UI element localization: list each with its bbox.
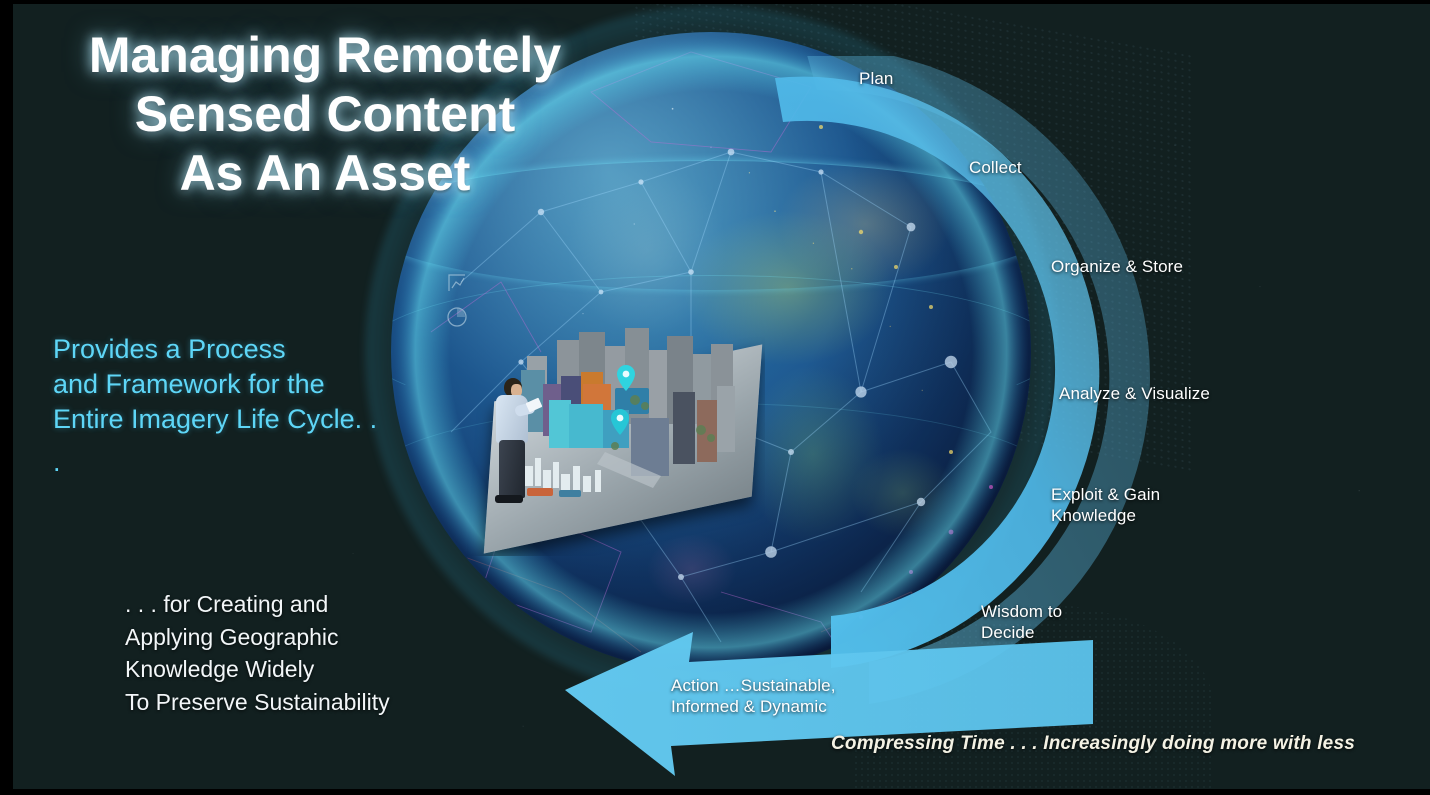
cycle-step-label: Wisdom to Decide <box>981 602 1062 643</box>
tagline-text: . . . for Creating and Applying Geograph… <box>125 588 595 719</box>
person-trousers <box>499 440 525 498</box>
cycle-step-label: Analyze & Visualize <box>1059 384 1210 405</box>
cycle-step-action[interactable]: Action …Sustainable, Informed & Dynamic <box>659 662 915 732</box>
cycle-step-label: Exploit & Gain Knowledge <box>1051 485 1160 526</box>
subtitle-text: Provides a Process and Framework for the… <box>53 332 523 437</box>
cycle-step-analyze-visualize[interactable]: Analyze & Visualize <box>1033 356 1281 432</box>
cycle-step-organize-store[interactable]: Organize & Store <box>1025 230 1269 304</box>
cycle-step-label: Organize & Store <box>1051 257 1183 278</box>
cycle-step-label: Collect <box>969 158 1022 179</box>
analytics-glyph-icons <box>443 269 503 339</box>
page-title: Managing Remotely Sensed Content As An A… <box>35 26 615 203</box>
cycle-step-wisdom-to-decide[interactable]: Wisdom to Decide <box>953 582 1161 664</box>
subtitle-stray-dot: . <box>53 449 61 476</box>
footnote-text: Compressing Time . . . Increasingly doin… <box>831 733 1355 755</box>
cycle-step-exploit-gain-knowledge[interactable]: Exploit & Gain Knowledge <box>1025 464 1261 548</box>
slide-canvas: Plan Collect <box>0 0 1430 795</box>
cycle-step-label: Action …Sustainable, Informed & Dynamic <box>671 676 836 717</box>
cycle-step-collect[interactable]: Collect <box>943 130 1177 206</box>
slide-stage: Plan Collect <box>13 4 1430 789</box>
cycle-step-plan[interactable]: Plan <box>833 42 1033 116</box>
person-shoe <box>495 495 523 503</box>
cycle-step-label: Plan <box>859 69 893 90</box>
